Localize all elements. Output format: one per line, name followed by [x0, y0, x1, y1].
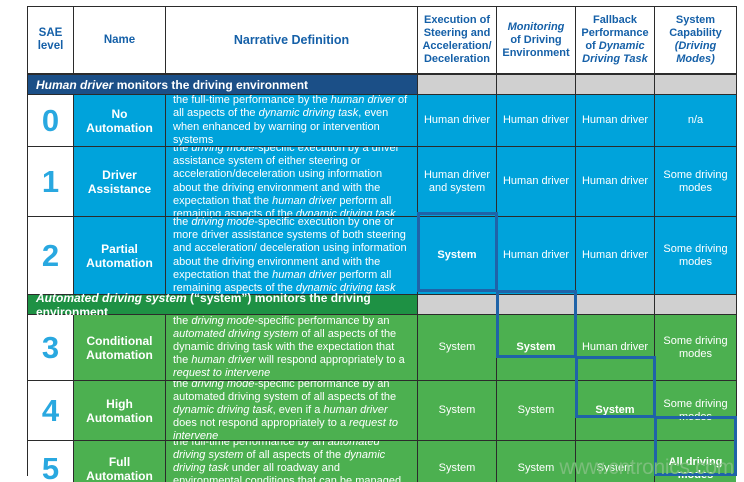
level-narrative: the driving mode-specific performance by… — [166, 315, 418, 381]
table-row: 0 No Automation the full-time performanc… — [28, 95, 736, 147]
level-narrative: the full-time performance by the human d… — [166, 95, 418, 147]
level-number: 1 — [28, 147, 74, 217]
cell-monitoring: Human driver — [497, 217, 576, 295]
cell-capability: Some driving modes — [655, 217, 736, 295]
level-name: Partial Automation — [74, 217, 166, 295]
level-name: Driver Assistance — [74, 147, 166, 217]
cell-execution: System — [418, 217, 497, 295]
band-human-driver: Human driver monitors the driving enviro… — [28, 75, 736, 95]
level-number: 3 — [28, 315, 74, 381]
sae-automation-levels-table: SAE level Name Narrative Definition Exec… — [0, 0, 744, 482]
level-number: 5 — [28, 441, 74, 482]
cell-capability: n/a — [655, 95, 736, 147]
level-number: 0 — [28, 95, 74, 147]
level-narrative: the driving mode-specific execution by a… — [166, 147, 418, 217]
level-name: No Automation — [74, 95, 166, 147]
cell-capability: Some driving modes — [655, 315, 736, 381]
cell-capability: Some driving modes — [655, 147, 736, 217]
band-automated-driving-system: Automated driving system (“system”) moni… — [28, 295, 736, 315]
band-gray-capability-2 — [655, 295, 736, 315]
band-human-driver-text: Human driver monitors the driving enviro… — [36, 78, 308, 92]
header-fallback: FallbackPerformanceof DynamicDriving Tas… — [576, 7, 655, 75]
header-monitoring: Monitoringof DrivingEnvironment — [497, 7, 576, 75]
band-gray-execution — [418, 75, 497, 95]
cell-fallback: System — [576, 381, 655, 441]
level-name: High Automation — [74, 381, 166, 441]
cell-capability: Some driving modes — [655, 381, 736, 441]
table-header-row: SAE level Name Narrative Definition Exec… — [28, 7, 736, 75]
cell-execution: System — [418, 441, 497, 482]
table-row: 4 High Automation the driving mode-speci… — [28, 381, 736, 441]
header-name: Name — [74, 7, 166, 75]
band-gray-monitoring-2 — [497, 295, 576, 315]
band-gray-fallback — [576, 75, 655, 95]
cell-fallback: Human driver — [576, 217, 655, 295]
cell-monitoring: Human driver — [497, 95, 576, 147]
band-gray-execution-2 — [418, 295, 497, 315]
level-narrative: the driving mode-specific performance by… — [166, 381, 418, 441]
header-sae-level-label: SAE level — [31, 27, 70, 53]
table-row: 1 Driver Assistance the driving mode-spe… — [28, 147, 736, 217]
cell-fallback: Human driver — [576, 147, 655, 217]
level-number: 4 — [28, 381, 74, 441]
band-gray-monitoring — [497, 75, 576, 95]
table-row: 2 Partial Automation the driving mode-sp… — [28, 217, 736, 295]
cell-execution: Human driver — [418, 95, 497, 147]
table-row: 3 Conditional Automation the driving mod… — [28, 315, 736, 381]
cell-execution: System — [418, 315, 497, 381]
header-monitoring-label: Monitoringof DrivingEnvironment — [502, 21, 569, 60]
cell-monitoring: Human driver — [497, 147, 576, 217]
header-execution-label: Execution ofSteering andAcceleration/Dec… — [422, 14, 491, 66]
level-name: Full Automation — [74, 441, 166, 482]
header-narrative-label: Narrative Definition — [234, 34, 349, 47]
cell-monitoring: System — [497, 315, 576, 381]
header-capability-label: SystemCapability(DrivingModes) — [669, 14, 722, 66]
cell-monitoring: System — [497, 381, 576, 441]
level-number: 2 — [28, 217, 74, 295]
level-name: Conditional Automation — [74, 315, 166, 381]
header-narrative-definition: Narrative Definition — [166, 7, 418, 75]
level-narrative: the driving mode-specific execution by o… — [166, 217, 418, 295]
cell-execution: Human driver and system — [418, 147, 497, 217]
band-human-driver-label: Human driver monitors the driving enviro… — [28, 75, 418, 95]
header-system-capability: SystemCapability(DrivingModes) — [655, 7, 736, 75]
band-gray-fallback-2 — [576, 295, 655, 315]
header-sae-level: SAE level — [28, 7, 74, 75]
cell-execution: System — [418, 381, 497, 441]
header-fallback-label: FallbackPerformanceof DynamicDriving Tas… — [581, 14, 648, 66]
header-name-label: Name — [104, 34, 135, 47]
watermark: www.cntronics.com — [559, 456, 734, 480]
header-execution: Execution ofSteering andAcceleration/Dec… — [418, 7, 497, 75]
levels-table: SAE level Name Narrative Definition Exec… — [27, 6, 737, 476]
band-automated-label: Automated driving system (“system”) moni… — [28, 295, 418, 315]
cell-fallback: Human driver — [576, 95, 655, 147]
level-narrative: the full-time performance by an automate… — [166, 441, 418, 482]
band-gray-capability — [655, 75, 736, 95]
cell-fallback: Human driver — [576, 315, 655, 381]
